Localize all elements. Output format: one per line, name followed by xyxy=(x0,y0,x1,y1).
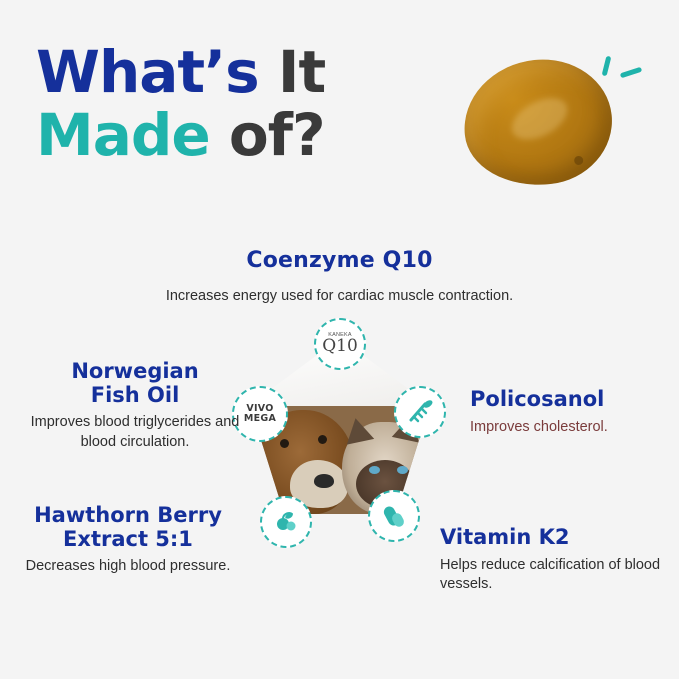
dog-eye-right xyxy=(318,435,327,444)
ingredient-title-vitamin-k2: Vitamin K2 xyxy=(440,526,672,550)
coq10-logo-icon: KANEKA Q10 xyxy=(322,333,358,356)
ingredient-desc-coenzyme-q10: Increases energy used for cardiac muscle… xyxy=(0,288,679,304)
headline-word-made: Made xyxy=(36,101,210,169)
ingredient-title-coenzyme-q10: Coenzyme Q10 xyxy=(0,248,679,273)
ingredient-desc-hawthorn-berry-extract: Decreases high blood pressure. xyxy=(8,557,248,577)
vitamin-k2-capsule-icon xyxy=(379,501,409,531)
cat-eye-right xyxy=(397,466,408,474)
gummy-speck xyxy=(574,156,584,166)
badge-vivomega: VIVO MEGA xyxy=(232,386,288,442)
badge-hawthorn-berry xyxy=(260,496,312,548)
headline-word-whats: What’s xyxy=(36,38,259,106)
ingredient-desc-policosanol: Improves cholesterol. xyxy=(470,418,670,438)
sparkle-icon xyxy=(620,67,642,79)
title-line-2: Fish Oil xyxy=(91,383,180,407)
ingredient-policosanol: Policosanol Improves cholesterol. xyxy=(470,388,670,437)
title-line-1: Norwegian xyxy=(71,359,198,383)
ingredient-desc-norwegian-fish-oil: Improves blood triglycerides and blood c… xyxy=(30,413,240,452)
ingredient-vitamin-k2: Vitamin K2 Helps reduce calcification of… xyxy=(440,526,672,595)
infographic-page: What’s It Made of? Coenzyme Q10 Increase… xyxy=(0,0,679,679)
title-line-2: Extract 5:1 xyxy=(63,527,193,551)
headline-word-of: of? xyxy=(229,101,325,169)
headline-line-2: Made of? xyxy=(36,107,456,164)
gummy-highlight xyxy=(505,90,574,148)
cat-eye-left xyxy=(369,466,380,474)
dog-eye-left xyxy=(280,439,289,448)
ingredient-title-hawthorn-berry-extract: Hawthorn Berry Extract 5:1 xyxy=(8,504,248,551)
page-title: What’s It Made of? xyxy=(36,44,456,164)
badge-vitamin-k2 xyxy=(368,490,420,542)
ingredient-desc-vitamin-k2: Helps reduce calcification of blood vess… xyxy=(440,556,672,595)
hawthorn-berry-icon xyxy=(272,508,300,536)
vivomega-logo-icon: VIVO MEGA xyxy=(234,404,286,425)
sparkle-icon xyxy=(602,56,612,77)
dog-nose xyxy=(314,474,334,488)
coq10-q10-label: Q10 xyxy=(322,338,358,355)
center-graphic: KANEKA Q10 VIVO MEGA xyxy=(232,318,448,570)
ingredient-title-policosanol: Policosanol xyxy=(470,388,670,412)
headline-word-it: It xyxy=(278,38,325,106)
ingredient-title-norwegian-fish-oil: Norwegian Fish Oil xyxy=(30,360,240,407)
policosanol-sugarcane-icon xyxy=(405,397,435,427)
ingredient-norwegian-fish-oil: Norwegian Fish Oil Improves blood trigly… xyxy=(30,360,240,452)
badge-coq10: KANEKA Q10 xyxy=(314,318,366,370)
gummy-shape xyxy=(458,53,618,193)
badge-policosanol xyxy=(394,386,446,438)
ingredient-hawthorn-berry-extract: Hawthorn Berry Extract 5:1 Decreases hig… xyxy=(8,504,248,577)
gummy-illustration xyxy=(452,42,652,217)
title-line-1: Hawthorn Berry xyxy=(34,503,222,527)
headline-line-1: What’s It xyxy=(36,44,456,101)
